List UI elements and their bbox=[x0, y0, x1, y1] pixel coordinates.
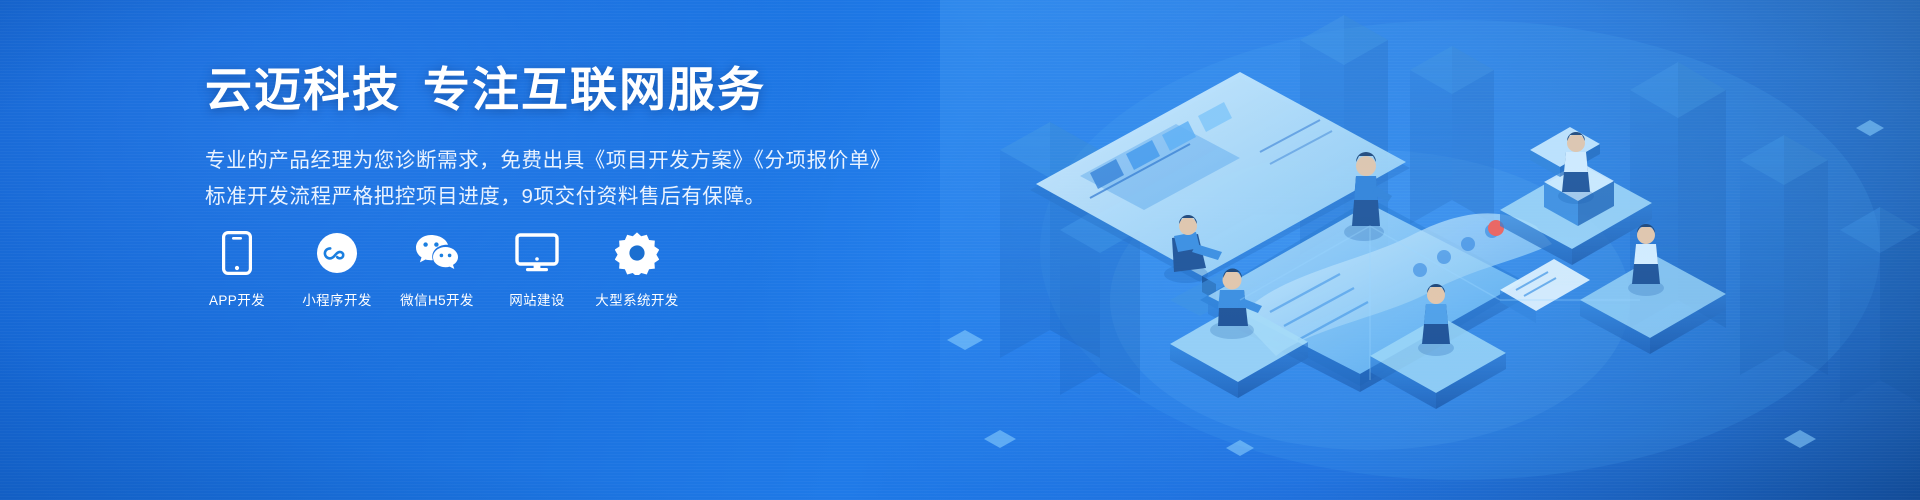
service-label-app: APP开发 bbox=[209, 289, 265, 309]
page-title: 云迈科技专注互联网服务 bbox=[205, 62, 925, 117]
service-item-website[interactable]: 网站建设 bbox=[505, 230, 569, 309]
service-item-app[interactable]: APP开发 bbox=[205, 230, 269, 309]
gear-icon bbox=[614, 230, 660, 276]
hero-banner: 云迈科技专注互联网服务 专业的产品经理为您诊断需求，免费出具《项目开发方案》《分… bbox=[0, 0, 1920, 500]
hero-copy: 云迈科技专注互联网服务 专业的产品经理为您诊断需求，免费出具《项目开发方案》《分… bbox=[205, 62, 925, 214]
monitor-icon bbox=[514, 230, 560, 276]
service-list: APP开发 小程序开发 微信 bbox=[205, 230, 669, 309]
headline-brand: 云迈科技 bbox=[205, 63, 401, 116]
service-label-miniprogram: 小程序开发 bbox=[302, 289, 372, 309]
service-item-wechat[interactable]: 微信H5开发 bbox=[405, 230, 469, 309]
subtitle-line-1: 专业的产品经理为您诊断需求，免费出具《项目开发方案》《分项报价单》 bbox=[205, 143, 925, 178]
illustration-isometric-tech bbox=[940, 0, 1920, 500]
service-label-website: 网站建设 bbox=[509, 289, 565, 309]
service-label-system: 大型系统开发 bbox=[595, 289, 678, 309]
service-label-wechat: 微信H5开发 bbox=[400, 289, 474, 309]
wechat-icon bbox=[414, 230, 460, 276]
mini-program-icon bbox=[314, 230, 360, 276]
headline-tagline: 专注互联网服务 bbox=[423, 63, 766, 116]
subtitle-line-2: 标准开发流程严格把控项目进度，9项交付资料售后有保障。 bbox=[205, 179, 925, 214]
mobile-phone-icon bbox=[214, 230, 260, 276]
hero-subtitle: 专业的产品经理为您诊断需求，免费出具《项目开发方案》《分项报价单》 标准开发流程… bbox=[205, 143, 925, 214]
service-item-miniprogram[interactable]: 小程序开发 bbox=[305, 230, 369, 309]
service-item-system[interactable]: 大型系统开发 bbox=[605, 230, 669, 309]
